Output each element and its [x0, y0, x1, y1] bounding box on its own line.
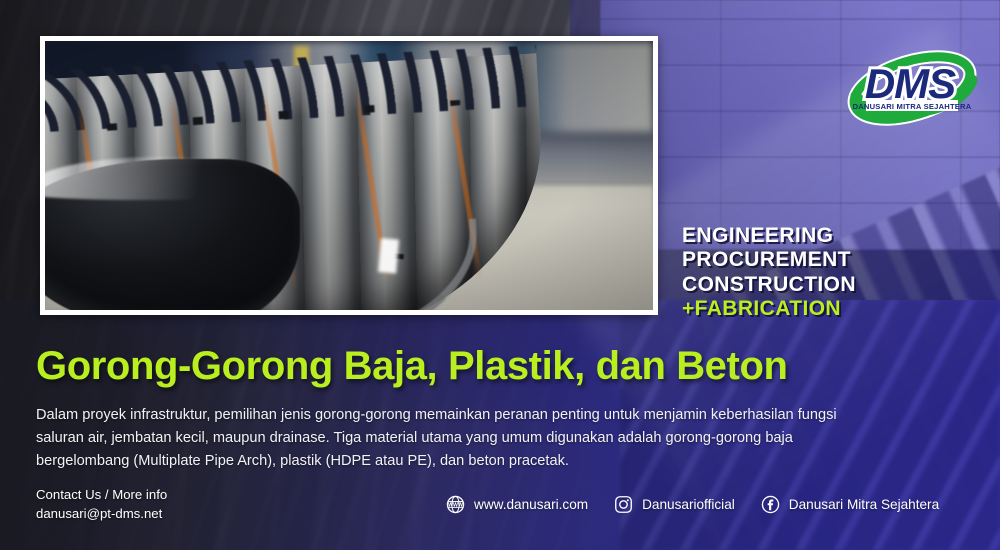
service-line-fabrication: +FABRICATION [682, 297, 856, 321]
social-facebook-label: Danusari Mitra Sejahtera [789, 497, 939, 512]
facebook-icon [761, 495, 780, 514]
www-globe-icon: WWW [446, 495, 465, 514]
contact-email[interactable]: danusari@pt-dms.net [36, 504, 167, 523]
photo-vignette [45, 41, 653, 310]
service-line-engineering: ENGINEERING [682, 224, 856, 248]
logo-wordmark: DMS DMS [865, 60, 956, 107]
social-website-label: www.danusari.com [474, 497, 588, 512]
social-instagram-label: Danusariofficial [642, 497, 735, 512]
svg-text:DANUSARI MITRA SEJAHTERA: DANUSARI MITRA SEJAHTERA [853, 102, 972, 111]
social-facebook[interactable]: Danusari Mitra Sejahtera [761, 495, 939, 514]
social-links: WWW www.danusari.com Danusariofficial [446, 495, 939, 514]
service-line-construction: CONSTRUCTION [682, 273, 856, 297]
page-title: Gorong-Gorong Baja, Plastik, dan Beton [36, 344, 788, 389]
contact-label: Contact Us / More info [36, 485, 167, 504]
social-instagram[interactable]: Danusariofficial [614, 495, 735, 514]
dms-logo: DMS DMS DANUSARI MITRA SEJAHTERA [838, 38, 986, 130]
services-list: ENGINEERING PROCUREMENT CONSTRUCTION +FA… [682, 224, 856, 321]
contact-block: Contact Us / More info danusari@pt-dms.n… [36, 485, 167, 523]
instagram-icon [614, 495, 633, 514]
hero-photo-frame [40, 36, 658, 315]
service-line-procurement: PROCUREMENT [682, 248, 856, 272]
svg-text:DMS: DMS [865, 60, 956, 107]
logo-subtext: DANUSARI MITRA SEJAHTERA [853, 100, 972, 111]
hero-photo [45, 41, 653, 310]
social-website[interactable]: WWW www.danusari.com [446, 495, 588, 514]
svg-text:WWW: WWW [448, 502, 463, 508]
body-paragraph: Dalam proyek infrastruktur, pemilihan je… [36, 404, 884, 473]
promo-banner: DMS DMS DANUSARI MITRA SEJAHTERA ENGINEE… [0, 0, 1000, 550]
